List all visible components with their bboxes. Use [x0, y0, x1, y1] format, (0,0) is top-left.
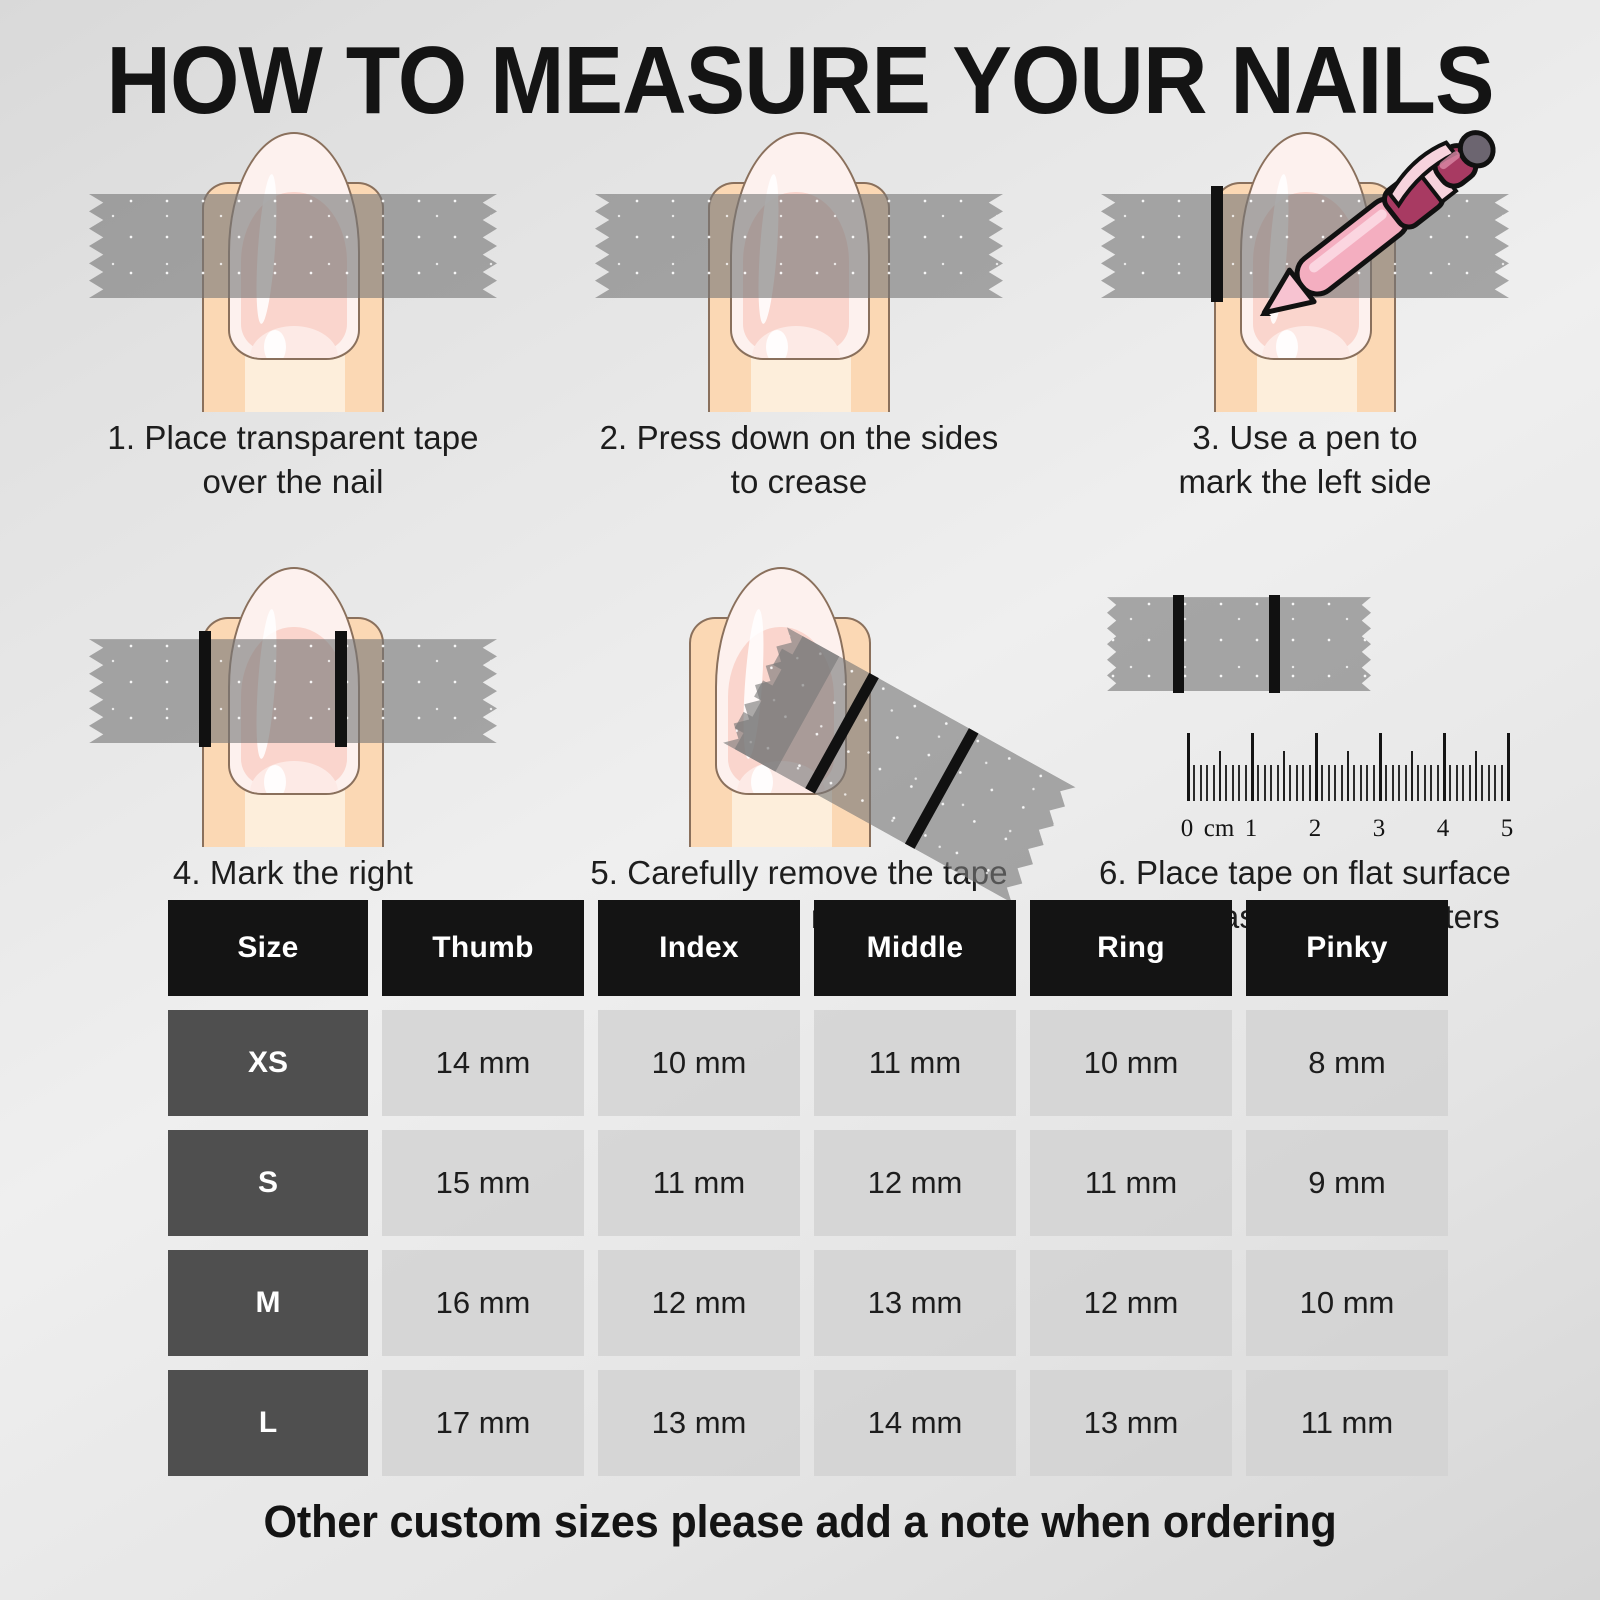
ruler-tick	[1379, 733, 1382, 801]
table-row: L 17 mm 13 mm 14 mm 13 mm 11 mm	[168, 1370, 1452, 1476]
ruler-label-4: 4	[1437, 815, 1450, 843]
ruler-tick	[1488, 765, 1490, 801]
table-header-thumb: Thumb	[382, 900, 584, 996]
ruler-tick	[1251, 733, 1254, 801]
step-3-illustration	[1085, 126, 1525, 412]
ruler-tick	[1456, 765, 1458, 801]
ruler-tick	[1225, 765, 1227, 801]
cell-pinky: 11 mm	[1246, 1370, 1448, 1476]
cell-pinky: 9 mm	[1246, 1130, 1448, 1236]
step-3-caption: 3. Use a pen to mark the left side	[1070, 416, 1540, 503]
cell-middle: 13 mm	[814, 1250, 1016, 1356]
cell-middle: 11 mm	[814, 1010, 1016, 1116]
ruler-tick	[1206, 765, 1208, 801]
ruler-tick	[1334, 765, 1336, 801]
ruler-tick	[1232, 765, 1234, 801]
cell-pinky: 8 mm	[1246, 1010, 1448, 1116]
tape-strip	[89, 194, 497, 298]
tape-strip	[89, 639, 497, 743]
ruler-tick	[1437, 765, 1439, 801]
step-1-caption-line-1: 1. Place transparent tape	[58, 416, 528, 460]
nail-gloss-dot	[264, 330, 286, 360]
step-2-illustration	[579, 126, 1019, 412]
ruler-tick	[1309, 765, 1311, 801]
ruler-label-3: 3	[1373, 815, 1386, 843]
step-1-caption-line-2: over the nail	[58, 460, 528, 504]
tape-strip-flat	[1107, 597, 1371, 691]
ruler-tick	[1296, 765, 1298, 801]
ruler-tick	[1277, 765, 1279, 801]
step-2-caption: 2. Press down on the sides to crease	[564, 416, 1034, 503]
step-5: 5. Carefully remove the tape from nail	[546, 561, 1052, 938]
ruler-tick	[1398, 765, 1400, 801]
table-row: M 16 mm 12 mm 13 mm 12 mm 10 mm	[168, 1250, 1452, 1356]
step-4-illustration	[73, 561, 513, 847]
pen-mark-right	[335, 631, 347, 747]
cell-size: M	[168, 1250, 368, 1356]
ruler-tick	[1417, 765, 1419, 801]
ruler-tick	[1430, 765, 1432, 801]
table-header-row: Size Thumb Index Middle Ring Pinky	[168, 900, 1452, 996]
step-6-illustration: 012345cm	[1085, 561, 1525, 847]
infographic-page: HOW TO MEASURE YOUR NAILS	[0, 0, 1600, 1600]
ruler-tick	[1405, 765, 1407, 801]
ruler-tick	[1302, 765, 1304, 801]
ruler-tick	[1193, 765, 1195, 801]
ruler-tick	[1257, 765, 1259, 801]
ruler-tick	[1264, 765, 1266, 801]
ruler-tick	[1385, 765, 1387, 801]
ruler-tick	[1347, 751, 1349, 801]
ruler-label-2: 2	[1309, 815, 1322, 843]
pen-icon	[1253, 116, 1523, 316]
step-3-caption-line-2: mark the left side	[1070, 460, 1540, 504]
ruler-tick	[1507, 733, 1510, 801]
pen-mark-left	[1211, 186, 1223, 302]
step-4-caption-line-1: 4. Mark the right	[58, 851, 528, 895]
nail-gloss-dot	[1276, 330, 1298, 360]
ruler-tick	[1424, 765, 1426, 801]
cell-index: 10 mm	[598, 1010, 800, 1116]
cell-thumb: 14 mm	[382, 1010, 584, 1116]
pen-mark-left	[1173, 595, 1184, 693]
step-1-caption: 1. Place transparent tape over the nail	[58, 416, 528, 503]
ruler-tick	[1321, 765, 1323, 801]
ruler-tick	[1328, 765, 1330, 801]
step-2-caption-line-1: 2. Press down on the sides	[564, 416, 1034, 460]
step-3: 3. Use a pen to mark the left side	[1052, 126, 1558, 503]
table-header-pinky: Pinky	[1246, 900, 1448, 996]
cell-ring: 10 mm	[1030, 1010, 1232, 1116]
step-4: 4. Mark the right side next	[40, 561, 546, 938]
ruler-tick	[1283, 751, 1285, 801]
cell-pinky: 10 mm	[1246, 1250, 1448, 1356]
cell-thumb: 15 mm	[382, 1130, 584, 1236]
ruler-tick	[1238, 765, 1240, 801]
ruler-label-1: 1	[1245, 815, 1258, 843]
ruler-tick	[1449, 765, 1451, 801]
footer-note: Other custom sizes please add a note whe…	[32, 1496, 1568, 1548]
step-3-caption-line-1: 3. Use a pen to	[1070, 416, 1540, 460]
table-header-size: Size	[168, 900, 368, 996]
step-1-illustration	[73, 126, 513, 412]
cell-size: S	[168, 1130, 368, 1236]
ruler-tick	[1475, 751, 1477, 801]
ruler-tick	[1392, 765, 1394, 801]
ruler-tick	[1353, 765, 1355, 801]
step-6: 012345cm 6. Place tape on flat surface a…	[1052, 561, 1558, 938]
cell-middle: 12 mm	[814, 1130, 1016, 1236]
table-row: XS 14 mm 10 mm 11 mm 10 mm 8 mm	[168, 1010, 1452, 1116]
ruler-unit-label: cm	[1204, 815, 1235, 843]
cell-index: 13 mm	[598, 1370, 800, 1476]
ruler-tick	[1200, 765, 1202, 801]
ruler-label-5: 5	[1501, 815, 1514, 843]
cell-size: L	[168, 1370, 368, 1476]
ruler-tick	[1315, 733, 1318, 801]
table-header-ring: Ring	[1030, 900, 1232, 996]
ruler-tick	[1494, 765, 1496, 801]
ruler-label-0: 0	[1181, 815, 1194, 843]
ruler: 012345cm	[1121, 713, 1521, 841]
ruler-tick	[1411, 751, 1413, 801]
pen-mark-right	[1269, 595, 1280, 693]
table-header-index: Index	[598, 900, 800, 996]
step-5-illustration	[579, 561, 1019, 847]
ruler-tick	[1219, 751, 1221, 801]
steps-row-1: 1. Place transparent tape over the nail	[40, 126, 1560, 503]
cell-thumb: 16 mm	[382, 1250, 584, 1356]
nail-gloss-dot	[751, 765, 773, 795]
ruler-tick	[1366, 765, 1368, 801]
steps-grid: 1. Place transparent tape over the nail	[40, 126, 1560, 938]
step-2: 2. Press down on the sides to crease	[546, 126, 1052, 503]
cell-index: 12 mm	[598, 1250, 800, 1356]
ruler-tick	[1245, 765, 1247, 801]
cell-ring: 12 mm	[1030, 1250, 1232, 1356]
ruler-tick	[1481, 765, 1483, 801]
table-header-middle: Middle	[814, 900, 1016, 996]
ruler-tick	[1341, 765, 1343, 801]
cell-ring: 11 mm	[1030, 1130, 1232, 1236]
ruler-tick	[1270, 765, 1272, 801]
ruler-tick	[1462, 765, 1464, 801]
nail-gloss-dot	[264, 765, 286, 795]
ruler-tick	[1469, 765, 1471, 801]
cell-middle: 14 mm	[814, 1370, 1016, 1476]
step-1: 1. Place transparent tape over the nail	[40, 126, 546, 503]
step-2-caption-line-2: to crease	[564, 460, 1034, 504]
size-chart-table: Size Thumb Index Middle Ring Pinky XS 14…	[168, 900, 1452, 1490]
steps-row-2: 4. Mark the right side next	[40, 561, 1560, 938]
cell-thumb: 17 mm	[382, 1370, 584, 1476]
cell-index: 11 mm	[598, 1130, 800, 1236]
ruler-tick	[1187, 733, 1190, 801]
step-6-caption-line-1: 6. Place tape on flat surface	[1070, 851, 1540, 895]
table-row: S 15 mm 11 mm 12 mm 11 mm 9 mm	[168, 1130, 1452, 1236]
cell-size: XS	[168, 1010, 368, 1116]
ruler-tick	[1360, 765, 1362, 801]
pen-mark-left	[199, 631, 211, 747]
ruler-tick	[1373, 765, 1375, 801]
ruler-tick	[1443, 733, 1446, 801]
ruler-tick	[1501, 765, 1503, 801]
ruler-tick	[1289, 765, 1291, 801]
nail-gloss-dot	[766, 330, 788, 360]
cell-ring: 13 mm	[1030, 1370, 1232, 1476]
tape-strip-creased	[595, 194, 1003, 298]
ruler-tick	[1213, 765, 1215, 801]
